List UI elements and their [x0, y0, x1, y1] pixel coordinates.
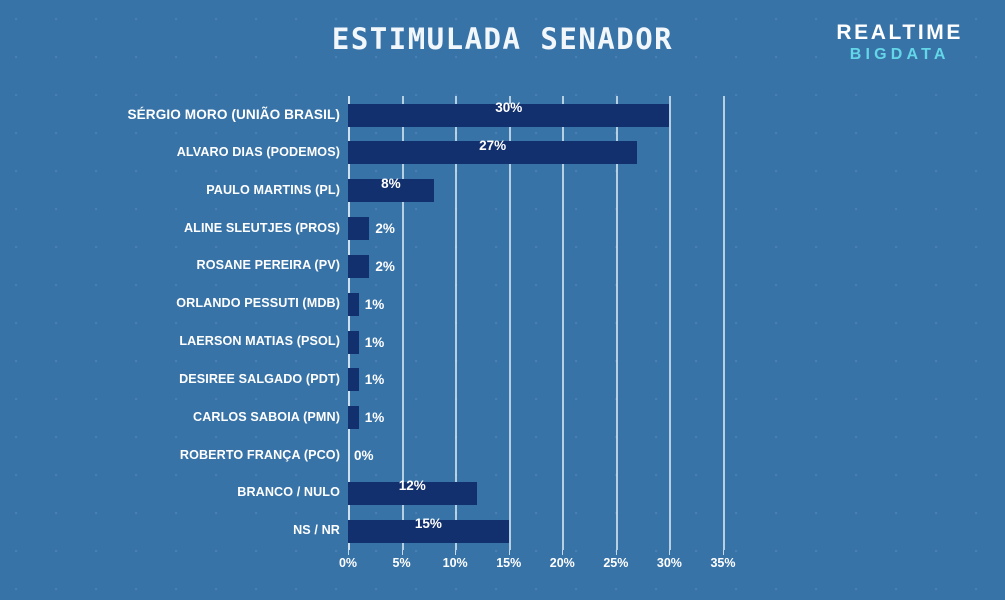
bar[interactable] — [348, 368, 359, 391]
bar-row[interactable]: 12% — [348, 474, 1005, 512]
category-label: ROSANE PEREIRA (PV) — [197, 247, 340, 285]
category-label: CARLOS SABOIA (PMN) — [193, 399, 340, 437]
bar-value-label: 30% — [348, 96, 669, 119]
bar-fill — [348, 406, 359, 429]
brand-name-primary: REALTIME — [836, 22, 963, 43]
bar-row[interactable]: 8% — [348, 172, 1005, 210]
bar-row[interactable]: 30% — [348, 96, 1005, 134]
category-label: ORLANDO PESSUTI (MDB) — [176, 285, 340, 323]
category-label: DESIREE SALGADO (PDT) — [179, 361, 340, 399]
category-label-list: SÉRGIO MORO (UNIÃO BRASIL)ALVARO DIAS (P… — [0, 96, 340, 550]
chart-root: ESTIMULADA SENADOR REALTIME BIGDATA SÉRG… — [0, 0, 1005, 600]
x-tick-label: 15% — [496, 556, 521, 570]
x-tick-mark — [455, 550, 456, 555]
bar-value-label: 15% — [348, 512, 509, 535]
bar-fill — [348, 255, 369, 278]
category-label: ALINE SLEUTJES (PROS) — [184, 210, 340, 248]
bar-fill — [348, 368, 359, 391]
bar-row[interactable]: 1% — [348, 361, 1005, 399]
x-tick-label: 10% — [443, 556, 468, 570]
bar-series: 30%27%8%2%2%1%1%1%1%0%12%15% — [348, 96, 723, 550]
bar-value-label: 1% — [365, 293, 385, 316]
category-label: LAERSON MATIAS (PSOL) — [179, 323, 340, 361]
x-tick-mark — [669, 550, 670, 555]
bar-fill — [348, 217, 369, 240]
category-label: ALVARO DIAS (PODEMOS) — [177, 134, 340, 172]
bar[interactable] — [348, 331, 359, 354]
bar-value-label: 27% — [348, 134, 637, 157]
bar[interactable] — [348, 293, 359, 316]
category-label: SÉRGIO MORO (UNIÃO BRASIL) — [127, 96, 340, 134]
bar-value-label: 1% — [365, 368, 385, 391]
bar-value-label: 0% — [354, 444, 374, 467]
bar[interactable] — [348, 217, 369, 240]
x-tick-mark — [509, 550, 510, 555]
bar-row[interactable]: 1% — [348, 285, 1005, 323]
brand-logo: REALTIME BIGDATA — [836, 22, 963, 63]
x-tick-mark — [562, 550, 563, 555]
category-label: NS / NR — [293, 512, 340, 550]
x-tick-mark — [348, 550, 349, 555]
bar[interactable] — [348, 406, 359, 429]
x-tick-label: 30% — [657, 556, 682, 570]
bar-row[interactable]: 2% — [348, 210, 1005, 248]
x-tick-label: 0% — [339, 556, 357, 570]
bar-value-label: 2% — [375, 255, 395, 278]
bar-value-label: 2% — [375, 217, 395, 240]
bar-row[interactable]: 1% — [348, 323, 1005, 361]
bar-row[interactable]: 27% — [348, 134, 1005, 172]
x-tick-label: 35% — [710, 556, 735, 570]
bar[interactable] — [348, 255, 369, 278]
bar-value-label: 8% — [348, 172, 434, 195]
bar-row[interactable]: 1% — [348, 399, 1005, 437]
x-tick-label: 20% — [550, 556, 575, 570]
bar-value-label: 12% — [348, 474, 477, 497]
bar-row[interactable]: 2% — [348, 247, 1005, 285]
bar-value-label: 1% — [365, 406, 385, 429]
bar-row[interactable]: 15% — [348, 512, 1005, 550]
x-tick-mark — [723, 550, 724, 555]
bar-fill — [348, 293, 359, 316]
category-label: PAULO MARTINS (PL) — [206, 172, 340, 210]
bar-value-label: 1% — [365, 331, 385, 354]
x-tick-label: 25% — [603, 556, 628, 570]
x-axis: 0%5%10%15%20%25%30%35% — [348, 550, 723, 576]
plot-area: 30%27%8%2%2%1%1%1%1%0%12%15% — [348, 96, 723, 550]
bar-fill — [348, 331, 359, 354]
bar-row[interactable]: 0% — [348, 437, 1005, 475]
brand-name-secondary: BIGDATA — [836, 47, 963, 63]
category-label: ROBERTO FRANÇA (PCO) — [180, 437, 340, 475]
category-label: BRANCO / NULO — [237, 474, 340, 512]
x-tick-mark — [616, 550, 617, 555]
x-tick-mark — [402, 550, 403, 555]
x-tick-label: 5% — [393, 556, 411, 570]
